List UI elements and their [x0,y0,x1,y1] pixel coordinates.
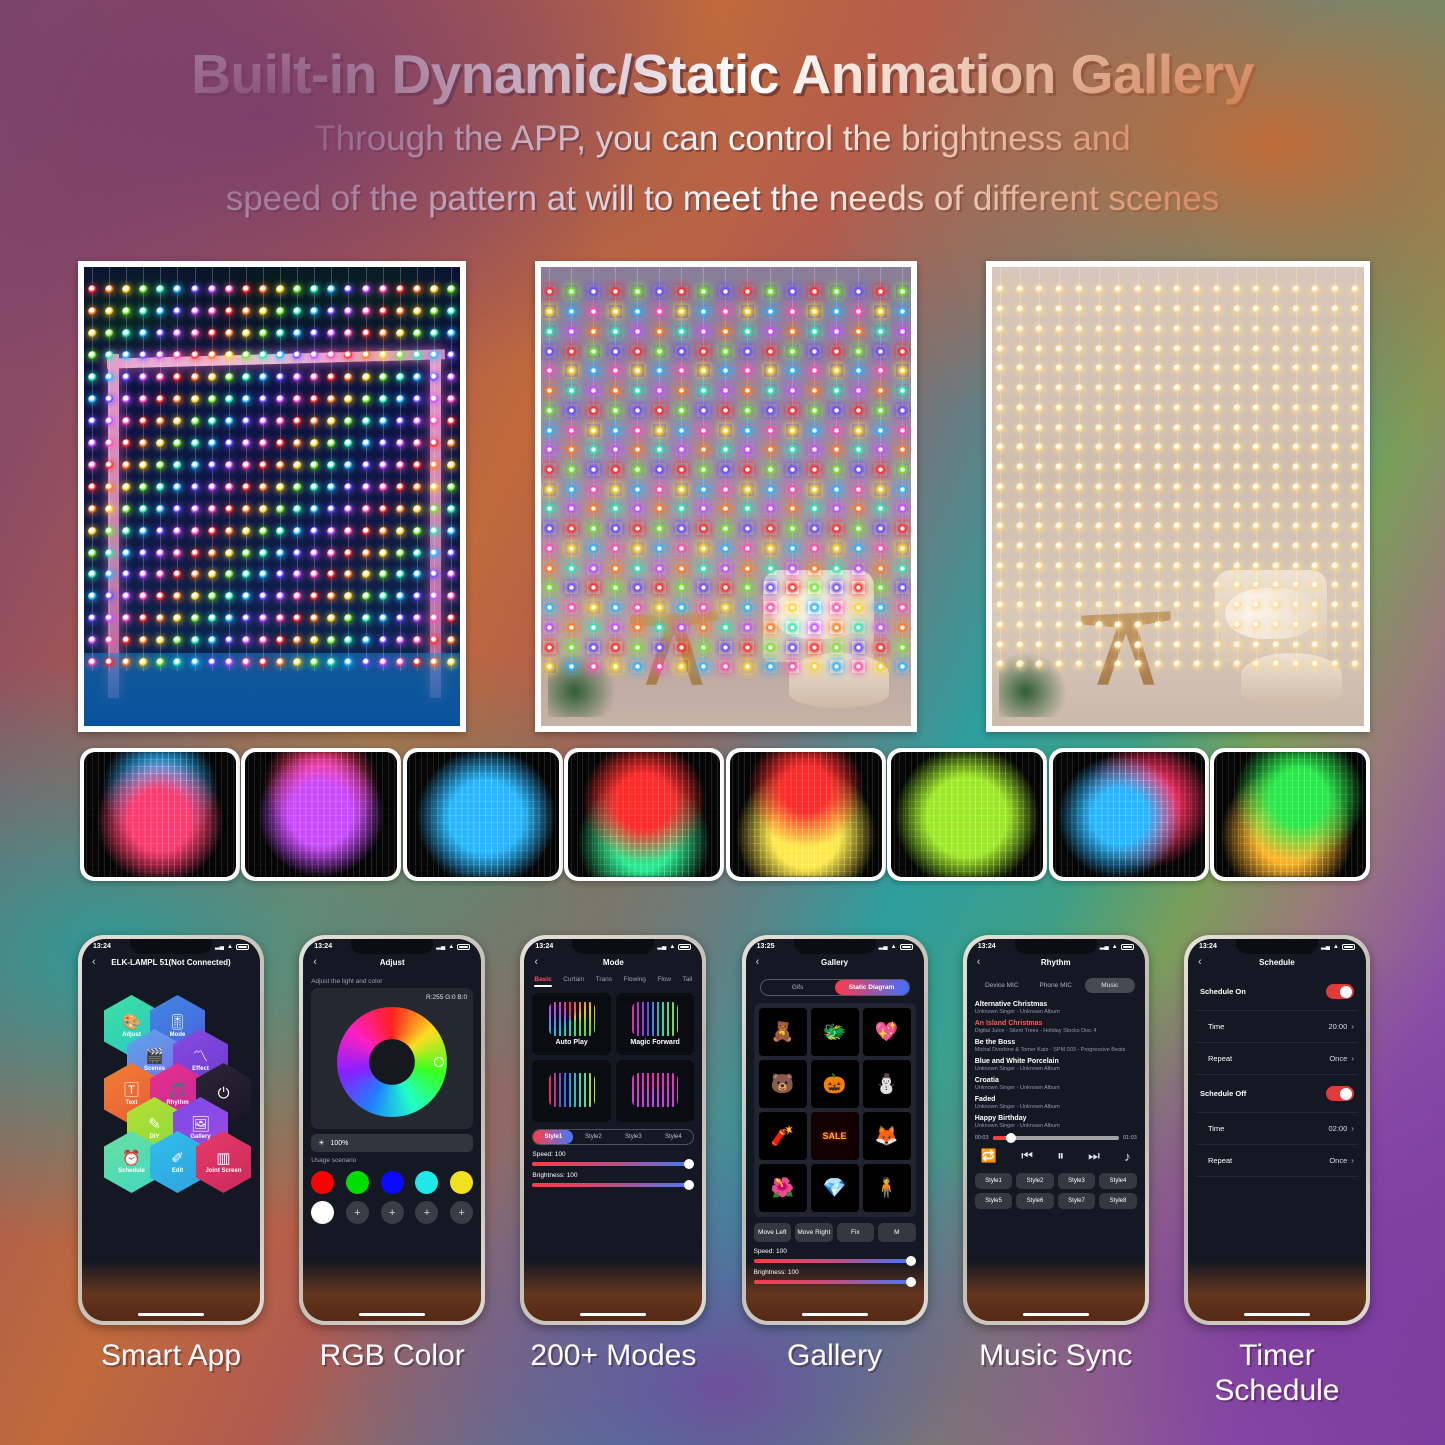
led-bulb [786,463,799,476]
mode-style-1[interactable]: Style1 [533,1130,573,1144]
mode-tab-trans[interactable]: Trans [596,976,612,983]
gallery-item[interactable]: 🐲 [811,1008,859,1056]
led-bulb [413,373,422,382]
mode-cell[interactable] [532,1060,611,1122]
rhythm-style-1[interactable]: Style1 [975,1173,1013,1189]
led-bulb [156,570,165,579]
led-bulb [1154,305,1163,314]
led-bulb [675,660,688,673]
led-bulb [896,345,909,358]
led-bulb [1035,364,1044,373]
previous-icon[interactable]: ⏮ [1021,1148,1033,1164]
led-bulb [1292,483,1301,492]
led-bulb [1055,384,1064,393]
signal-icon: ▂▄ [1100,943,1109,950]
led-bulb [105,614,114,623]
led-bulb [1331,325,1340,334]
add-color-button[interactable]: + [346,1201,369,1224]
led-bulb [259,417,268,426]
led-bulb [609,384,622,397]
led-bulb [208,329,217,338]
phone-notch [1015,939,1097,954]
mode-tab-flow[interactable]: Flow [657,976,671,983]
gallery-item[interactable]: 🎃 [811,1060,859,1108]
led-bulb [609,641,622,654]
schedule-row-schedule-off[interactable]: Schedule Off [1196,1075,1358,1113]
led-bulb [996,601,1005,610]
led-bulb [105,549,114,558]
led-bulb [1331,660,1340,669]
led-bulb [362,614,371,623]
led-bulb [697,483,710,496]
led-bulb [1154,345,1163,354]
mode-tab-basic[interactable]: Basic [534,976,551,983]
phone-rgb-color: 13:24 ▂▄ ▲ ‹ Adjust Adjust the light and… [299,935,485,1325]
led-bulb [675,562,688,575]
gallery-item[interactable]: 🌺 [759,1164,807,1212]
led-bulb [1351,463,1360,472]
mode-cell[interactable]: Magic Forward [616,993,695,1055]
gallery-item[interactable]: 🧨 [759,1112,807,1160]
schedule-row-time[interactable]: Time20:00› [1196,1011,1358,1043]
rhythm-style-2[interactable]: Style2 [1016,1173,1054,1189]
led-bulb [1331,641,1340,650]
led-bulb [362,351,371,360]
led-bulb [1272,542,1281,551]
led-bulb [208,614,217,623]
led-bulb [808,542,821,555]
mic-tab-music[interactable]: Music [1085,978,1135,993]
led-bulb [259,351,268,360]
led-bulb [1193,305,1202,314]
led-bulb [413,614,422,623]
gallery-action-buttons: Move LeftMove RightFixM [754,1223,916,1242]
led-bulb [1311,364,1320,373]
add-color-button[interactable]: + [450,1201,473,1224]
led-bulb [1252,660,1261,669]
led-bulb [225,439,234,448]
led-bulb [276,592,285,601]
led-bulb [327,307,336,316]
led-bulb [396,636,405,645]
color-swatch[interactable] [311,1171,334,1194]
screen-schedule: 13:24 ▂▄ ▲ ‹ Schedule Schedule OnTime20:… [1188,939,1366,1321]
led-bulb [719,542,732,555]
led-bulb [88,592,97,601]
led-bulb [173,636,182,645]
led-bulb [447,614,456,623]
speed-slider[interactable] [754,1259,916,1263]
led-bulb [379,658,388,667]
led-bulb [310,439,319,448]
led-bulb [786,502,799,515]
led-bulb [896,285,909,298]
led-bulb [1075,483,1084,492]
led-bulb [430,483,439,492]
led-bulb [1272,463,1281,472]
schedule-value: Once [1329,1156,1347,1165]
led-bulb [1272,325,1281,334]
song-list-item[interactable]: Happy BirthdayUnknown Singer - Unknown A… [975,1112,1137,1131]
led-bulb [1331,502,1340,511]
gallery-button-move-right[interactable]: Move Right [795,1223,833,1242]
led-bulb [1351,364,1360,373]
led-bulb [242,592,251,601]
led-bulb [1272,660,1281,669]
rhythm-style-4[interactable]: Style4 [1099,1173,1137,1189]
mode-tab-curtain[interactable]: Curtain [563,976,584,983]
led-bulb [719,305,732,318]
hex-menu-label: Gallery [190,1134,210,1140]
led-bulb [173,395,182,404]
led-bulb [413,483,422,492]
mode-cell[interactable]: Auto Play [532,993,611,1055]
led-bulb [543,581,556,594]
feature-caption: 200+ Modes [520,1338,706,1409]
brightness-slider-knob[interactable] [906,1277,916,1287]
led-bulb [1292,542,1301,551]
led-bulb [327,373,336,382]
led-bulb [719,424,732,437]
schedule-row-list: Schedule OnTime20:00›RepeatOnce›Schedule… [1196,973,1358,1177]
led-bulb [764,581,777,594]
led-bulb [122,373,131,382]
rhythm-style-3[interactable]: Style3 [1058,1173,1096,1189]
song-list-item[interactable]: CroatiaUnknown Singer - Unknown Album [975,1074,1137,1093]
led-bulb [764,305,777,318]
gallery-item[interactable]: 🧍 [863,1164,911,1212]
led-bulb [1154,601,1163,610]
mode-tab-tail[interactable]: Tail [683,976,693,983]
led-bulb [1134,285,1143,294]
led-bulb [631,483,644,496]
led-bulb [208,307,217,316]
speed-slider-knob[interactable] [684,1159,694,1169]
led-bulb [1016,404,1025,413]
led-bulb [396,395,405,404]
led-bulb [139,614,148,623]
led-bulb [1233,660,1242,669]
led-bulb [1154,542,1163,551]
led-bulb [896,641,909,654]
led-bulb [1213,443,1222,452]
mode-cell[interactable] [616,1060,695,1122]
led-bulb [675,285,688,298]
led-strand [416,267,418,726]
led-bulb [362,461,371,470]
led-bulb [1351,581,1360,590]
gallery-button-fix[interactable]: Fix [837,1223,875,1242]
led-bulb [396,483,405,492]
led-bulb [1213,285,1222,294]
wifi-icon: ▲ [1333,944,1339,950]
gallery-item[interactable]: 🧸 [759,1008,807,1056]
led-bulb [874,404,887,417]
led-bulb [327,592,336,601]
led-bulb [675,601,688,614]
brightness-slider[interactable] [754,1280,916,1284]
led-bulb [719,364,732,377]
led-bulb [719,404,732,417]
led-bulb [1075,364,1084,373]
thumb-led-dots [730,752,882,877]
rhythm-style-6[interactable]: Style6 [1016,1193,1054,1209]
schedule-row-schedule-on[interactable]: Schedule On [1196,973,1358,1011]
led-strand [615,267,617,726]
schedule-toggle[interactable] [1326,984,1354,999]
rhythm-style-8[interactable]: Style8 [1099,1193,1137,1209]
led-curtain-rainbow [84,267,460,726]
schedule-row-time[interactable]: Time02:00› [1196,1113,1358,1145]
led-bulb [1331,601,1340,610]
mode-style-3[interactable]: Style3 [613,1130,653,1144]
nav-title: Gallery [746,958,924,967]
led-bulb [1075,581,1084,590]
song-list-item[interactable]: Be the BossMichal Dvorkine & Tomer Katz … [975,1036,1137,1055]
color-swatch[interactable] [450,1171,473,1194]
led-bulb [242,658,251,667]
play-pause-icon[interactable]: ⏸ [1057,1148,1064,1164]
led-bulb [896,483,909,496]
led-bulb [697,621,710,634]
led-bulb [996,345,1005,354]
gallery-item[interactable]: 🦊 [863,1112,911,1160]
led-bulb [1292,443,1301,452]
mode-tab-bar: BasicCurtainTransFlowingFlowTail [532,973,694,987]
mic-tab-phone-mic[interactable]: Phone MIC [1031,982,1081,989]
schedule-value-wrap: Once› [1329,1054,1354,1063]
song-list-item[interactable]: Blue and White PorcelainUnknown Singer -… [975,1055,1137,1074]
speed-slider-knob[interactable] [906,1256,916,1266]
led-bulb [1213,522,1222,531]
led-bulb [430,373,439,382]
led-bulb [896,621,909,634]
mode-style-2[interactable]: Style2 [573,1130,613,1144]
rhythm-style-7[interactable]: Style7 [1058,1193,1096,1209]
led-bulb [225,461,234,470]
gallery-item[interactable]: 💎 [811,1164,859,1212]
brightness-slider[interactable] [532,1183,694,1187]
led-bulb [741,424,754,437]
gallery-item[interactable]: 💖 [863,1008,911,1056]
led-bulb [156,373,165,382]
led-bulb [122,439,131,448]
led-bulb [327,329,336,338]
led-bulb [259,483,268,492]
song-list-item[interactable]: An Island ChristmasDigital Juice - Silen… [975,1017,1137,1036]
led-bulb [1154,581,1163,590]
led-bulb [1134,483,1143,492]
led-bulb [413,307,422,316]
led-bulb [362,329,371,338]
led-bulb [105,658,114,667]
led-bulb [1035,384,1044,393]
scenes-icon: 🎬 [145,1049,164,1064]
color-wheel-handle[interactable] [434,1057,444,1067]
led-bulb [242,285,251,294]
led-bulb [139,592,148,601]
pattern-thumbnail [403,748,563,881]
color-swatch[interactable] [311,1201,334,1224]
led-bulb [1075,463,1084,472]
next-icon[interactable]: ⏭ [1088,1148,1100,1164]
mic-tab-device-mic[interactable]: Device MIC [977,982,1027,989]
led-bulb [139,461,148,470]
led-bulb [830,424,843,437]
led-bulb [808,364,821,377]
led-strand [1059,267,1061,726]
led-bulb [741,542,754,555]
led-bulb [1114,660,1123,669]
feature-caption: RGB Color [299,1338,485,1409]
led-bulb [808,621,821,634]
led-strand [999,267,1001,726]
led-bulb [1173,601,1182,610]
led-bulb [697,424,710,437]
add-color-button[interactable]: + [381,1201,404,1224]
mode-tab-flowing[interactable]: Flowing [623,976,645,983]
schedule-body: Schedule OnTime20:00›RepeatOnce›Schedule… [1188,973,1366,1177]
led-bulb [631,443,644,456]
led-bulb [675,621,688,634]
schedule-row-label: Repeat [1208,1156,1232,1165]
led-bulb [719,345,732,358]
led-bulb [543,542,556,555]
led-bulb [1173,285,1182,294]
led-bulb [122,285,131,294]
led-strand [211,267,213,726]
led-bulb [310,570,319,579]
led-bulb [543,345,556,358]
led-bulb [276,285,285,294]
led-bulb [653,542,666,555]
led-bulb [653,285,666,298]
led-bulb [1272,364,1281,373]
gallery-item[interactable]: ⛄ [863,1060,911,1108]
led-bulb [741,325,754,338]
song-list-item[interactable]: Alternative ChristmasUnknown Singer - Un… [975,998,1137,1017]
led-bulb [225,570,234,579]
led-bulb [1272,483,1281,492]
led-bulb [379,570,388,579]
song-list-item[interactable]: FadedUnknown Singer - Unknown Album [975,1093,1137,1112]
schedule-row-repeat[interactable]: RepeatOnce› [1196,1043,1358,1075]
led-bulb [156,461,165,470]
gallery-button-m[interactable]: M [878,1223,916,1242]
mode-style-4[interactable]: Style4 [653,1130,693,1144]
led-bulb [1154,641,1163,650]
led-bulb [1114,305,1123,314]
led-bulb [786,325,799,338]
led-bulb [1193,581,1202,590]
led-bulb [208,505,217,514]
led-bulb [242,439,251,448]
led-bulb [786,424,799,437]
brightness-label: Brightness: 100 [754,1269,916,1276]
text-icon: 🅃 [124,1083,139,1098]
led-bulb [293,461,302,470]
schedule-row-repeat[interactable]: RepeatOnce› [1196,1145,1358,1177]
equalizer-icon[interactable]: ♪ [1124,1149,1131,1164]
led-strand [659,267,661,726]
gallery-segment-gifs[interactable]: Gifs [761,980,835,995]
color-swatch[interactable] [415,1171,438,1194]
color-swatch[interactable] [381,1171,404,1194]
led-bulb [1075,601,1084,610]
signal-icon: ▂▄ [436,943,445,950]
led-bulb [259,636,268,645]
led-bulb [1351,502,1360,511]
led-bulb [1016,502,1025,511]
led-bulb [808,345,821,358]
gallery-button-move-left[interactable]: Move Left [754,1223,792,1242]
led-bulb [156,307,165,316]
led-bulb [1252,345,1261,354]
gallery-item[interactable]: SALE [811,1112,859,1160]
led-curtain-multicolor [541,267,911,726]
color-wheel-card: R:255 G:0 B:0 [311,988,473,1129]
led-bulb [741,562,754,575]
color-wheel[interactable] [337,1007,447,1117]
led-bulb [259,527,268,536]
led-bulb [653,601,666,614]
led-bulb [764,601,777,614]
led-bulb [653,502,666,515]
led-bulb [996,443,1005,452]
led-bulb [996,522,1005,531]
add-color-button[interactable]: + [415,1201,438,1224]
hex-menu-label: Rhythm [166,1100,188,1106]
led-bulb [191,658,200,667]
color-swatch[interactable] [346,1171,369,1194]
led-bulb [1055,660,1064,669]
schedule-icon: ⏰ [122,1151,141,1166]
led-bulb [191,285,200,294]
gallery-segment-static-diagram[interactable]: Static Diagram [835,980,909,995]
rhythm-style-5[interactable]: Style5 [975,1193,1013,1209]
gallery-item[interactable]: 🐻 [759,1060,807,1108]
pattern-thumbnail [1049,748,1209,881]
repeat-icon[interactable]: 🔁 [981,1148,997,1164]
led-bulb [996,305,1005,314]
led-bulb [1114,502,1123,511]
nav-title: ELK-LAMPL 51(Not Connected) [82,958,260,967]
led-bulb [609,424,622,437]
led-bulb [396,373,405,382]
led-bulb [225,592,234,601]
led-bulb [808,483,821,496]
led-bulb [1252,424,1261,433]
brightness-slider[interactable]: ☀ 100% [311,1134,473,1152]
progress-track[interactable] [993,1136,1119,1140]
led-bulb [874,660,887,673]
led-bulb [808,581,821,594]
led-bulb [139,658,148,667]
led-bulb [764,562,777,575]
led-bulb [808,601,821,614]
pattern-thumbnail [1210,748,1370,881]
led-bulb [1213,660,1222,669]
speed-slider[interactable] [532,1162,694,1166]
led-bulb [1193,483,1202,492]
led-bulb [1055,562,1064,571]
schedule-toggle[interactable] [1326,1086,1354,1101]
led-bulb [852,641,865,654]
brightness-slider-knob[interactable] [684,1180,694,1190]
led-bulb [1311,424,1320,433]
led-bulb [362,592,371,601]
led-bulb [1292,641,1301,650]
